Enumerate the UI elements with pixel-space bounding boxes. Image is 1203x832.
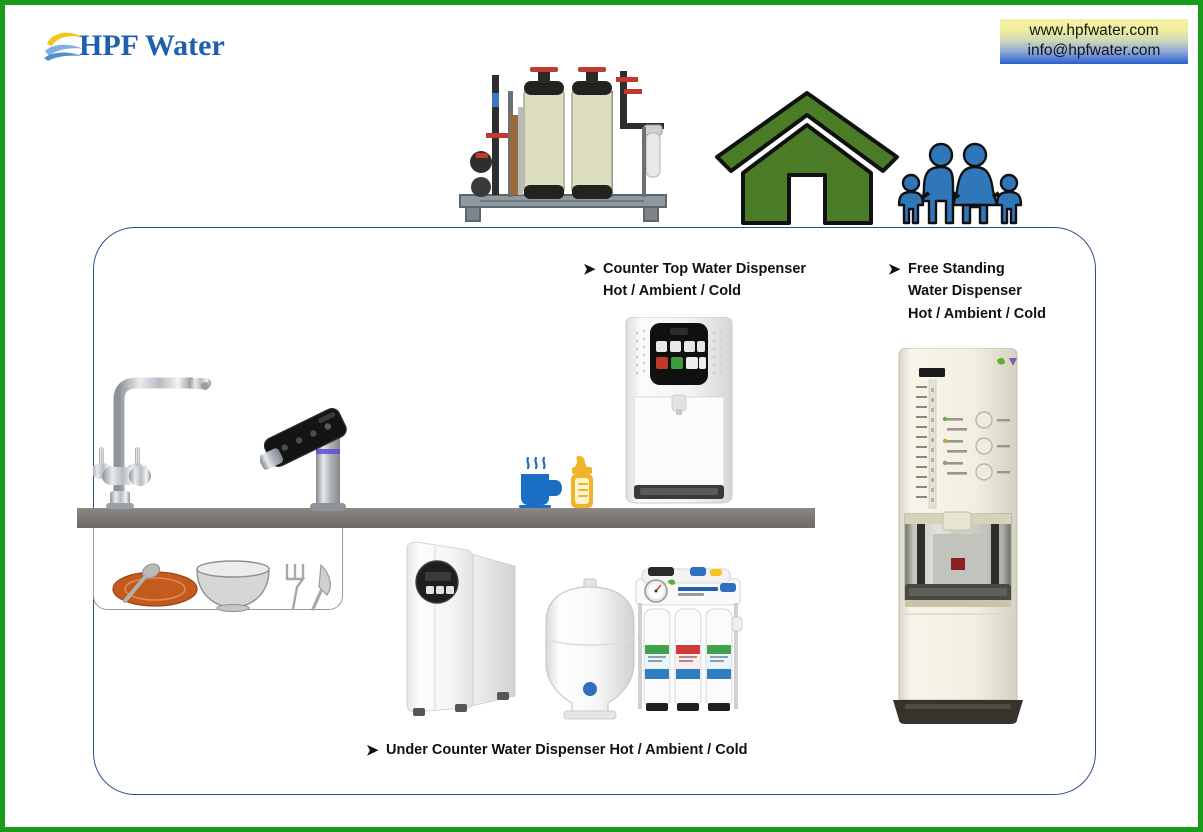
ro-manifold [636,567,740,605]
heading-line-1: Counter Top Water Dispenser [603,258,806,280]
three-way-chrome-faucet [93,373,215,513]
industrial-water-treatment-skid-illustration [448,67,680,229]
page-root: HPF Water www.hpfwater.com info@hpfwater… [0,0,1203,832]
tank-base [564,711,616,719]
ro-pressure-storage-tank [538,577,642,723]
ro-pump [648,567,674,576]
bowl-icon [197,561,269,612]
bullet-arrow-icon: ➤ [888,258,901,281]
tap-accent-ring [316,449,340,454]
fork-icon [287,565,303,609]
knife-icon [313,565,330,609]
foot-mid [455,704,467,712]
heading-line-3: Hot / Ambient / Cold [908,303,1046,325]
contact-website[interactable]: www.hpfwater.com [1000,21,1188,41]
hot-button [976,412,992,428]
bullet-arrow-icon: ➤ [583,258,596,281]
status-display [919,368,945,377]
hot-and-baby-drink-icons [517,454,599,510]
brand-mark [951,558,965,570]
brand-logo: HPF Water [43,23,273,69]
control-dial [416,561,458,603]
heading-line-2: Water Dispenser [908,280,1046,302]
filter-cartridge-2 [675,609,701,711]
base-plinth [893,700,1023,724]
heading-line-1: Under Counter Water Dispenser Hot / Ambi… [386,739,747,761]
cold-button [976,464,992,480]
valve-piping-right [616,71,664,197]
heading-free-standing-dispenser: ➤ Free Standing Water Dispenser Hot / Am… [908,258,1046,325]
free-standing-water-dispenser [889,348,1027,724]
under-counter-water-dispenser [397,540,525,718]
foot-right [497,692,509,700]
ro-brand-label [678,587,718,591]
hot-button [656,357,668,369]
dispense-nozzle [943,512,971,530]
heading-counter-top-dispenser: ➤ Counter Top Water Dispenser Hot / Ambi… [603,258,806,303]
baby-bottle-icon [571,456,593,508]
dishware-group-icon [109,553,339,615]
extra-button [699,357,706,369]
valve-piping-left [470,75,523,197]
cold-button [686,357,698,369]
reverse-osmosis-filter-system [632,565,744,721]
heading-line-2: Hot / Ambient / Cold [603,280,806,302]
family-of-four-icon [895,135,1027,225]
bullet-arrow-icon: ➤ [366,739,379,762]
brand-logo-text: HPF Water [79,29,225,63]
heading-under-counter-dispenser: ➤ Under Counter Water Dispenser Hot / Am… [386,739,747,761]
ambient-button [976,438,992,454]
panel-indicator-icons [656,341,705,352]
filter-cartridge-3 [706,609,732,711]
steaming-cup-icon [519,458,562,508]
foot-left [413,708,425,716]
digital-touch-tap [260,397,352,513]
dispense-nozzle [672,395,686,411]
counter-top-water-dispenser [620,317,738,505]
contact-badge: www.hpfwater.com info@hpfwater.com [1000,19,1188,64]
tank-outlet-port [583,682,597,696]
ambient-button [671,357,683,369]
frp-tank-right [572,67,612,199]
contact-email[interactable]: info@hpfwater.com [1000,41,1188,61]
frp-tank-left [524,67,564,199]
house-icon [715,89,900,225]
filter-cartridge-1 [644,609,670,711]
heading-line-1: Free Standing [908,258,1046,280]
